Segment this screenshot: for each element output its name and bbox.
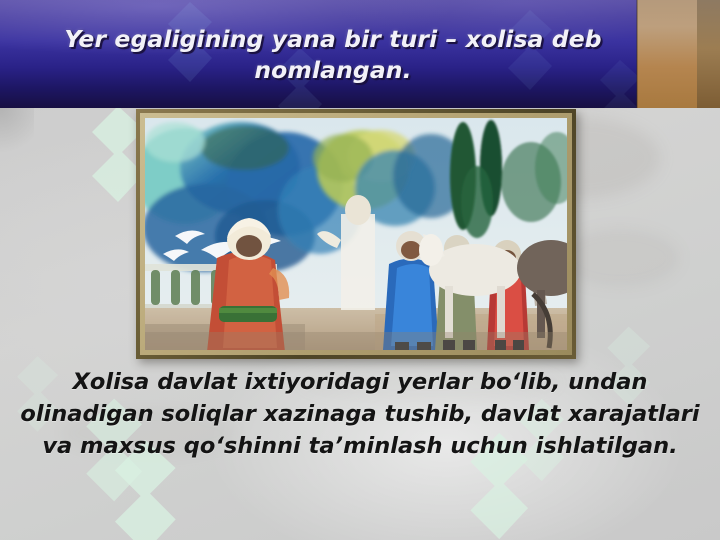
slide-body-paragraph: Xolisa davlat ixtiyoridagi yerlar bo‘lib…	[20, 366, 700, 462]
tan-band-divider	[636, 0, 638, 108]
historical-painting-image	[145, 118, 567, 350]
tan-band-primary	[637, 0, 697, 108]
slide-title: Yer egaligining yana bir turi – xolisa d…	[46, 24, 620, 86]
historical-painting-frame	[136, 109, 576, 359]
corner-shading	[0, 108, 34, 158]
presentation-slide: Yer egaligining yana bir turi – xolisa d…	[0, 0, 720, 540]
tan-band-secondary	[697, 0, 720, 108]
slide-header-band: Yer egaligining yana bir turi – xolisa d…	[0, 0, 720, 108]
